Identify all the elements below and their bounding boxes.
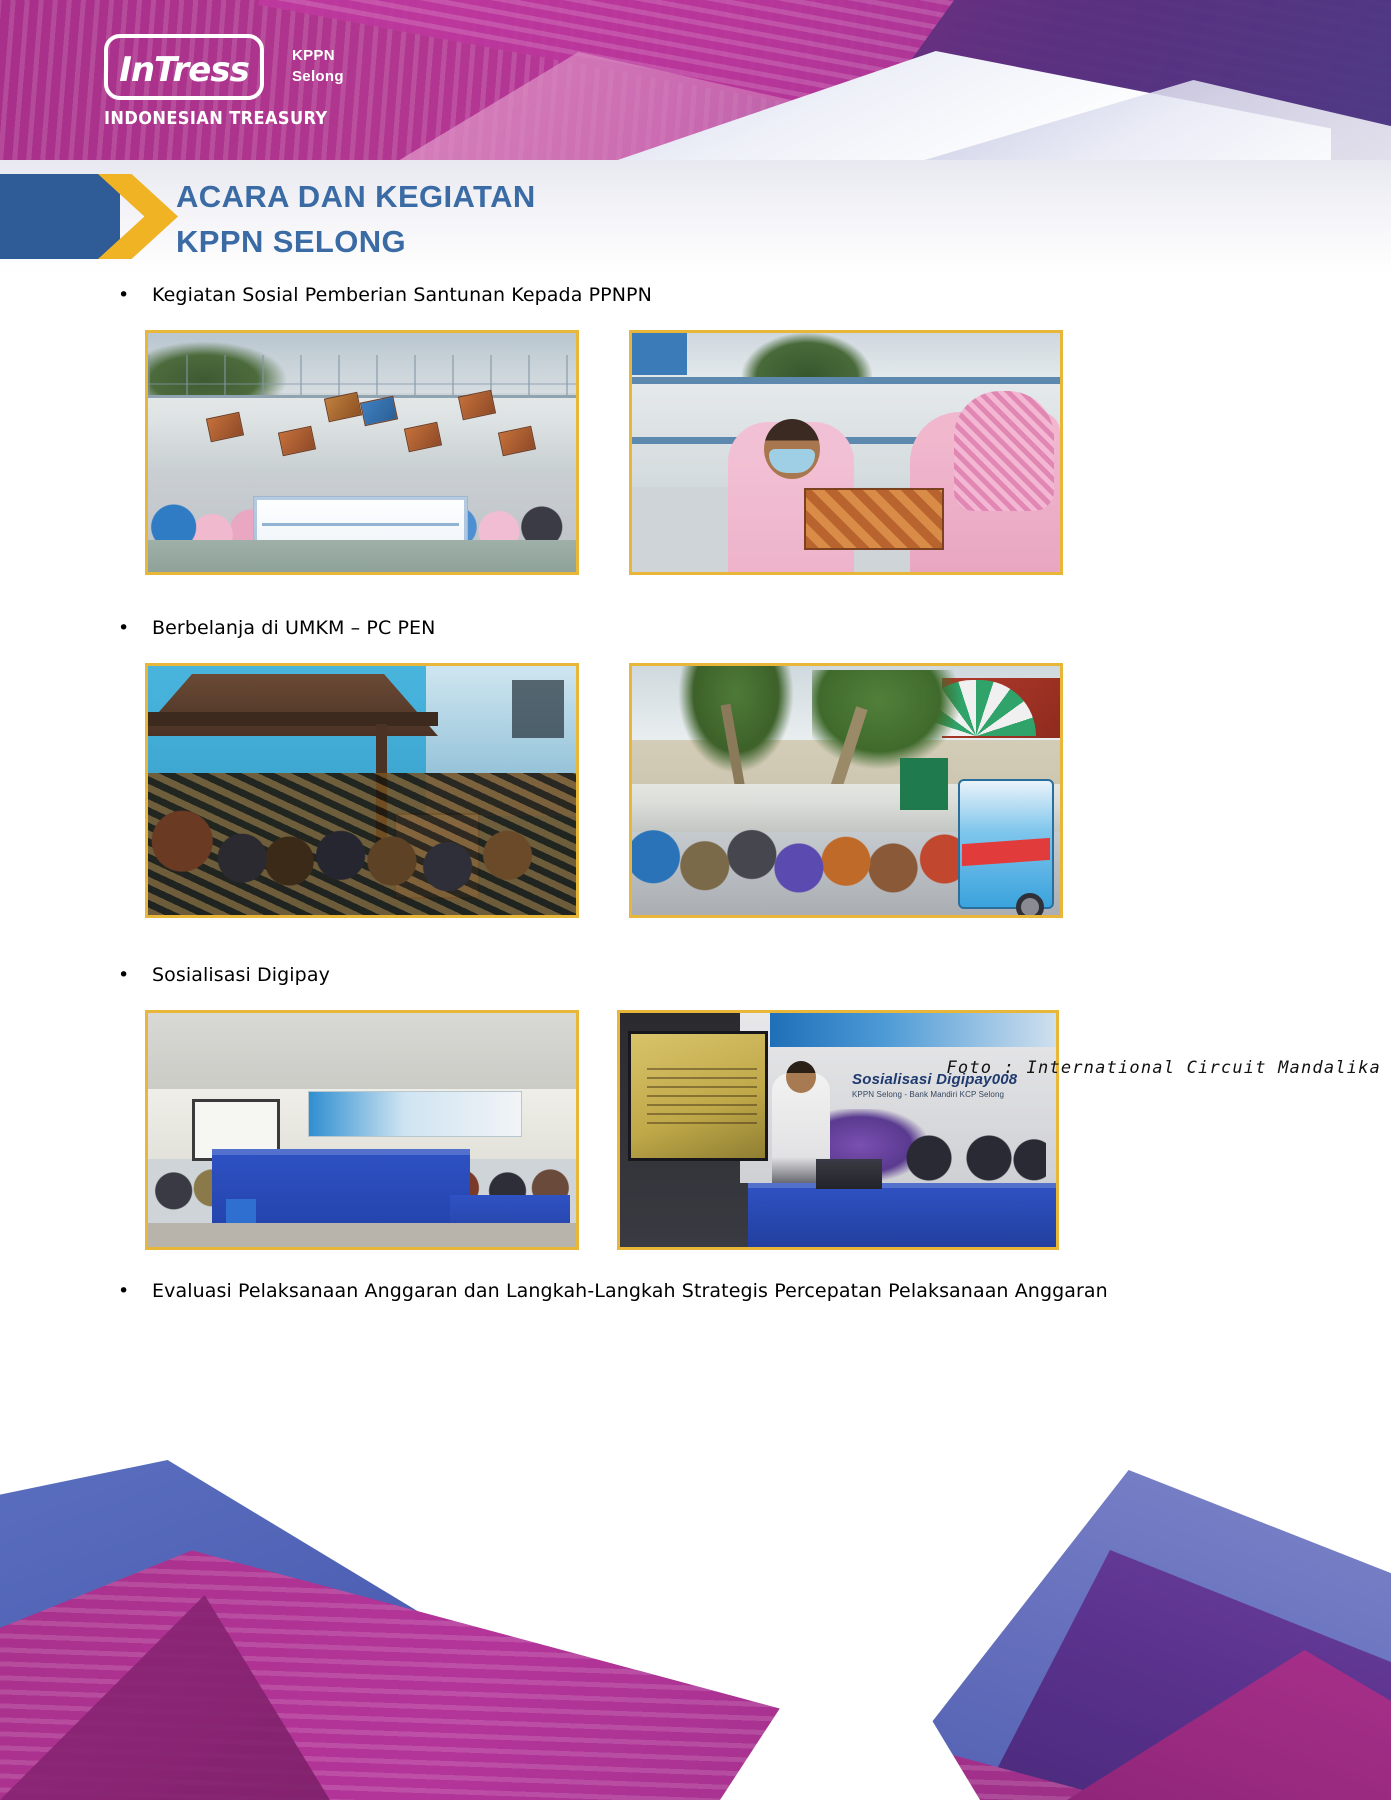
bullet-label: Kegiatan Sosial Pemberian Santunan Kepad… (152, 280, 1271, 310)
bullet-marker-icon: • (118, 280, 152, 310)
photo-floor (148, 1223, 576, 1247)
logo-wordmark: InTress (108, 46, 260, 94)
photo-blue-table (748, 1183, 1056, 1247)
section-digipay: • Sosialisasi Digipay (0, 960, 1391, 1250)
footer-white-notch (720, 1570, 980, 1800)
office-name-line1: KPPN (292, 45, 344, 66)
photo-speaker-head (786, 1061, 816, 1093)
page-footer-banner (0, 1380, 1391, 1800)
photo-digipay-presentation: Sosialisasi Digipay008 KPPN Selong - Ban… (617, 1010, 1059, 1250)
photo-slide-screen (628, 1031, 768, 1161)
photo-slide-text-lines (647, 1064, 757, 1124)
photo-penyerahan-bingkisan (629, 330, 1063, 575)
office-name-line2: Selong (292, 66, 344, 87)
photo-people-batik (148, 773, 576, 915)
photo-window (512, 680, 564, 738)
section-santunan: • Kegiatan Sosial Pemberian Santunan Kep… (0, 280, 1391, 575)
page-title-line2: KPPN SELONG (176, 219, 536, 264)
photo-blue-panel (632, 333, 687, 375)
page-title: ACARA DAN KEGIATAN KPPN SELONG (176, 174, 536, 264)
bullet-item: • Sosialisasi Digipay (0, 960, 1391, 990)
photo-panel-seats (896, 1125, 1046, 1185)
photo-credit-caption: Foto : International Circuit Mandalika (946, 1058, 1381, 1078)
bullet-marker-icon: • (118, 613, 152, 643)
photo-batik-gift-box (804, 488, 944, 550)
photo-cart-wheel (1016, 893, 1044, 918)
photo-ground (148, 540, 576, 572)
photo-digipay-room (145, 1010, 579, 1250)
bullet-marker-icon: • (118, 1276, 152, 1306)
photo-hijab (954, 391, 1054, 511)
photo-row-1 (0, 330, 1391, 575)
document-page: InTress INDONESIAN TREASURY KPPN Selong … (0, 0, 1391, 1800)
bullet-item: • Berbelanja di UMKM – PC PEN (0, 613, 1391, 643)
logo-subtitle: INDONESIAN TREASURY (104, 108, 279, 129)
photo-row-3: Sosialisasi Digipay008 KPPN Selong - Ban… (0, 1010, 1391, 1250)
photo-tree (812, 670, 962, 770)
bullet-marker-icon: • (118, 960, 152, 990)
bullet-label: Berbelanja di UMKM – PC PEN (152, 613, 1271, 643)
section-umkm: • Berbelanja di UMKM – PC PEN (0, 613, 1391, 918)
bullet-label: Sosialisasi Digipay (152, 960, 1271, 990)
photo-kppn-banner (308, 1091, 522, 1137)
bullet-label: Evaluasi Pelaksanaan Anggaran dan Langka… (152, 1276, 1271, 1307)
bullet-item: • Evaluasi Pelaksanaan Anggaran dan Lang… (0, 1276, 1391, 1307)
photo-kegiatan-sosial-group (145, 330, 579, 575)
photo-row-2 (0, 663, 1391, 918)
logo-outline-box: InTress (104, 34, 264, 100)
content-body: • Kegiatan Sosial Pemberian Santunan Kep… (0, 280, 1391, 1307)
photo-ceiling (148, 1013, 576, 1091)
photo-umkm-warung (145, 663, 579, 918)
photo-rail-top (632, 377, 1060, 384)
digipay-banner-subtitle: KPPN Selong - Bank Mandiri KCP Selong (852, 1090, 1052, 1099)
bullet-item: • Kegiatan Sosial Pemberian Santunan Kep… (0, 280, 1391, 310)
intress-logo: InTress INDONESIAN TREASURY (104, 34, 279, 134)
title-block: ACARA DAN KEGIATAN KPPN SELONG (0, 160, 1391, 275)
page-title-line1: ACARA DAN KEGIATAN (176, 174, 536, 219)
photo-roof-edge (148, 712, 438, 726)
section-evaluasi: • Evaluasi Pelaksanaan Anggaran dan Lang… (0, 1276, 1391, 1307)
office-name: KPPN Selong (292, 45, 344, 87)
photo-laptop (816, 1159, 882, 1189)
page-header-banner: InTress INDONESIAN TREASURY KPPN Selong (0, 0, 1391, 172)
photo-umkm-crowd-cart (629, 663, 1063, 918)
title-blue-block (0, 174, 120, 259)
photo-kppn-header-strip (770, 1013, 1056, 1047)
